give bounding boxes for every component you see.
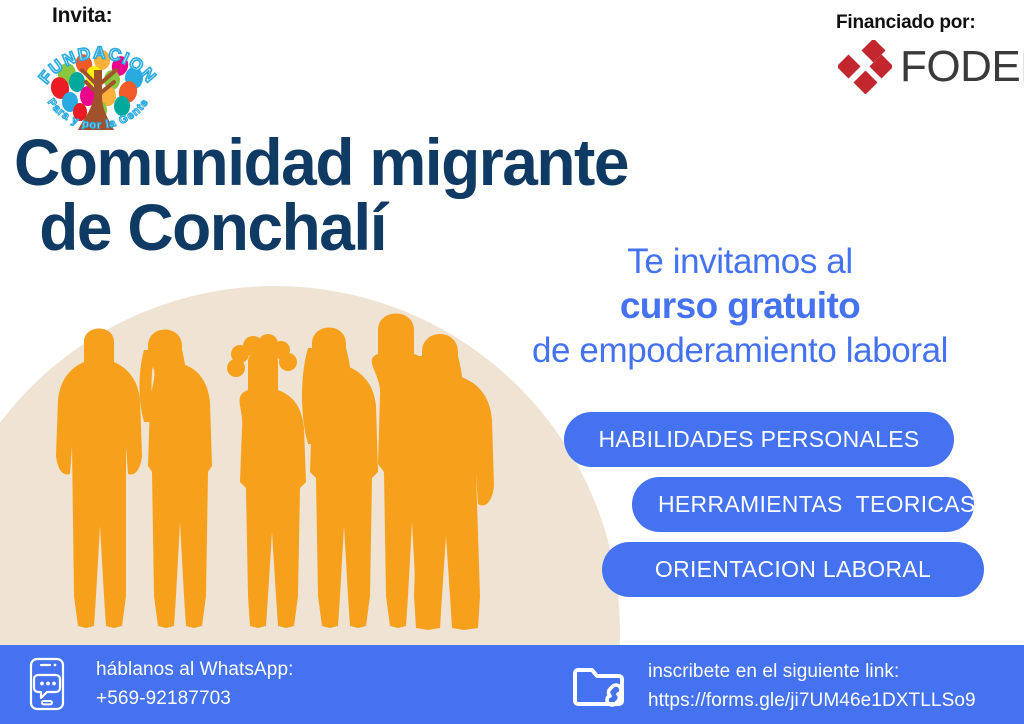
signup-url[interactable]: https://forms.gle/ji7UM46e1DXTLLSo9 xyxy=(648,686,976,715)
invitation-line-3: de empoderamiento laboral xyxy=(460,329,1020,372)
whatsapp-contact-block: háblanos al WhatsApp: +569-92187703 xyxy=(16,653,294,715)
topic-pill-list: HABILIDADES PERSONALES HERRAMIENTAS TEOR… xyxy=(560,412,1012,597)
topic-pill-herramientas-teoricas[interactable]: HERRAMIENTAS TEORICAS xyxy=(632,477,974,532)
fundacion-tree-icon: FUNDACION Para y por la Gente xyxy=(22,26,174,138)
invitation-line-2-bold: curso gratuito xyxy=(460,283,1020,329)
invitation-copy: Te invitamos al curso gratuito de empode… xyxy=(460,240,1020,373)
fodep-wordmark: FODEP xyxy=(900,45,1024,89)
fundacion-logo: FUNDACION Para y por la Gente xyxy=(22,26,174,138)
whatsapp-label: háblanos al WhatsApp: xyxy=(96,655,294,684)
fodep-diamonds-icon xyxy=(838,40,892,94)
footer-bar: háblanos al WhatsApp: +569-92187703 insc… xyxy=(0,645,1024,724)
topic-pill-orientacion-laboral[interactable]: ORIENTACION LABORAL xyxy=(602,542,984,597)
page-title-line-1: Comunidad migrante xyxy=(14,130,628,195)
signup-link-text: inscribete en el siguiente link: https:/… xyxy=(648,657,976,716)
people-silhouettes-illustration xyxy=(22,296,522,648)
fodep-logo: FODEP xyxy=(838,40,1024,94)
signup-label: inscribete en el siguiente link: xyxy=(648,657,976,686)
whatsapp-number[interactable]: +569-92187703 xyxy=(96,684,294,713)
invitation-line-1: Te invitamos al xyxy=(460,240,1020,283)
topic-pill-habilidades-personales[interactable]: HABILIDADES PERSONALES xyxy=(564,412,954,467)
poster-canvas: Invita: xyxy=(0,0,1024,724)
signup-link-block: inscribete en el siguiente link: https:/… xyxy=(572,657,976,716)
group-of-people-icon xyxy=(22,296,522,648)
smartphone-chat-icon xyxy=(16,653,78,715)
folder-link-icon xyxy=(572,660,630,712)
whatsapp-contact-text: háblanos al WhatsApp: +569-92187703 xyxy=(96,655,294,714)
invita-label: Invita: xyxy=(52,4,112,28)
financiado-label: Financiado por: xyxy=(836,12,976,34)
